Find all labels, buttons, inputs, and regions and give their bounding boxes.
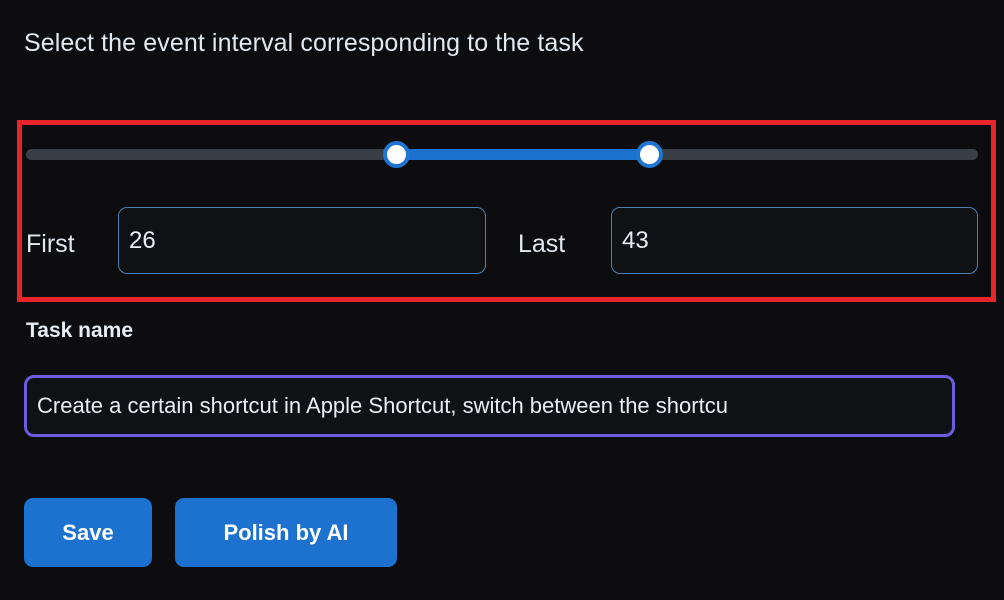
- task-name-label: Task name: [26, 317, 133, 345]
- interval-fields: First Last: [26, 207, 978, 275]
- save-button[interactable]: Save: [24, 498, 152, 567]
- action-buttons: Save Polish by AI: [24, 498, 397, 567]
- polish-by-ai-button[interactable]: Polish by AI: [175, 498, 397, 567]
- last-label: Last: [518, 229, 565, 259]
- first-label: First: [26, 229, 75, 259]
- first-input[interactable]: [118, 207, 486, 274]
- task-name-input[interactable]: [24, 375, 955, 437]
- slider-handle-last[interactable]: [636, 141, 663, 168]
- last-input[interactable]: [611, 207, 978, 274]
- event-interval-panel: Select the event interval corresponding …: [0, 0, 1004, 600]
- slider-handle-first[interactable]: [383, 141, 410, 168]
- slider-selected-range: [396, 149, 649, 160]
- range-slider[interactable]: [26, 140, 978, 170]
- page-title: Select the event interval corresponding …: [24, 26, 584, 60]
